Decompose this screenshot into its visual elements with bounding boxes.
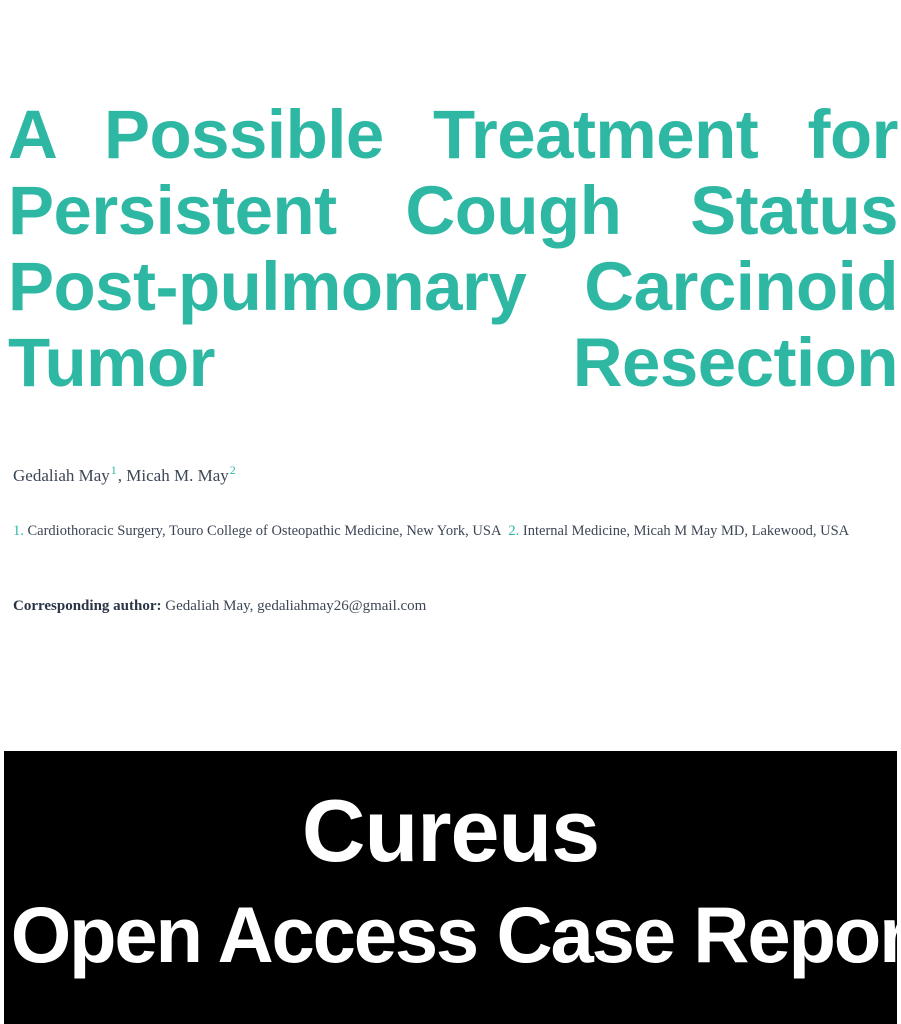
author-name-2: Micah M. May bbox=[126, 466, 228, 485]
author-affiliation-marker-2: 2 bbox=[229, 463, 237, 477]
page-title: A Possible Treatment for Persistent Coug… bbox=[8, 97, 898, 477]
affiliation-list: 1. Cardiothoracic Surgery, Touro College… bbox=[13, 520, 875, 543]
corresponding-author: Corresponding author: Gedaliah May, geda… bbox=[13, 595, 875, 617]
journal-banner: Cureus Open Access Case Report bbox=[4, 751, 897, 1024]
author-list: Gedaliah May1, Micah M. May2 bbox=[13, 464, 883, 488]
corresponding-author-label: Corresponding author: bbox=[13, 598, 162, 614]
affiliation-number-2: 2. bbox=[508, 523, 519, 539]
article-title-page: A Possible Treatment for Persistent Coug… bbox=[0, 0, 901, 1024]
affiliation-text-2: Internal Medicine, Micah M May MD, Lakew… bbox=[523, 523, 849, 539]
journal-article-type: Open Access Case Report bbox=[11, 893, 891, 977]
affiliation-text-1: Cardiothoracic Surgery, Touro College of… bbox=[28, 523, 502, 539]
title-block: A Possible Treatment for Persistent Coug… bbox=[8, 97, 898, 477]
affiliation-number-1: 1. bbox=[13, 523, 24, 539]
corresponding-author-value: Gedaliah May, gedaliahmay26@gmail.com bbox=[162, 598, 427, 614]
author-name-1: Gedaliah May bbox=[13, 466, 110, 485]
author-affiliation-marker-1: 1 bbox=[110, 463, 118, 477]
author-separator: , bbox=[118, 466, 127, 485]
journal-brand-name: Cureus bbox=[4, 787, 897, 875]
